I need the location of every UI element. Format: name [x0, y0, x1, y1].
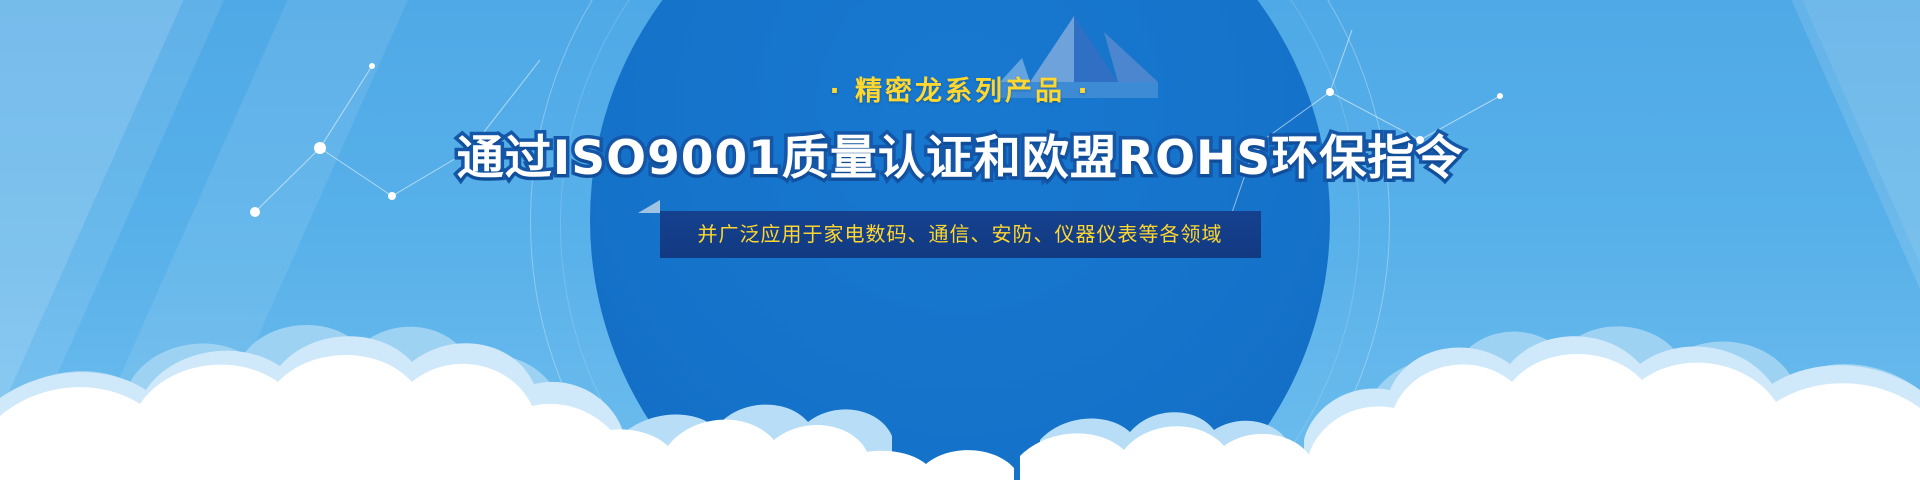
banner-kicker: · 精密龙系列产品 · — [0, 78, 1920, 105]
banner-content: · 精密龙系列产品 · 通过ISO9001质量认证和欧盟ROHS环保指令 并广泛… — [0, 0, 1920, 258]
cloud-layer-front — [0, 320, 1920, 480]
ribbon-fold-icon — [638, 198, 660, 211]
promo-banner: · 精密龙系列产品 · 通过ISO9001质量认证和欧盟ROHS环保指令 并广泛… — [0, 0, 1920, 480]
banner-headline: 通过ISO9001质量认证和欧盟ROHS环保指令 — [0, 133, 1920, 185]
